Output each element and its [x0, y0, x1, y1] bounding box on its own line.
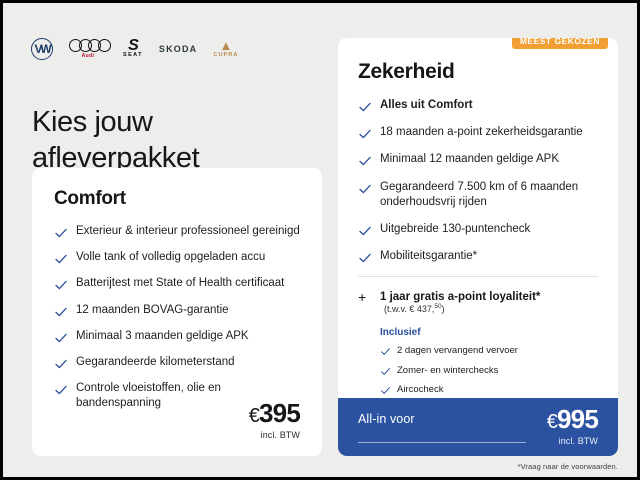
inclusief-item: Aircocheck	[380, 384, 598, 396]
allin-rule	[358, 442, 526, 443]
comfort-feature-label: Exterieur & interieur professioneel gere…	[76, 224, 300, 239]
zekerheid-card-title: Zekerheid	[358, 60, 596, 84]
zekerheid-feature-label: Uitgebreide 130-puntencheck	[380, 222, 598, 237]
check-icon	[54, 383, 68, 397]
loyalty-bonus-value: (t.w.v. € 437,50)	[384, 304, 445, 314]
comfort-feature-label: Volle tank of volledig opgeladen accu	[76, 250, 300, 265]
inclusief-item: Zomer- en winterchecks	[380, 365, 598, 377]
comfort-feature-list: Exterieur & interieur professioneel gere…	[54, 224, 300, 411]
comfort-price-amount: 395	[259, 398, 300, 428]
check-icon	[54, 357, 68, 371]
comfort-feature-label: Batterijtest met State of Health certifi…	[76, 276, 300, 291]
zekerheid-feature-label: 18 maanden a-point zekerheidsgarantie	[380, 125, 598, 140]
check-icon	[358, 251, 372, 265]
zekerheid-feature-item: Alles uit Comfort	[358, 98, 598, 113]
skoda-logo-icon: SKODA	[159, 45, 198, 54]
check-icon	[380, 366, 391, 377]
comfort-currency-symbol: €	[249, 405, 259, 427]
zekerheid-package-card[interactable]: MEEST GEKOZEN Zekerheid Alles uit Comfor…	[338, 38, 618, 456]
comfort-price: €395	[249, 400, 300, 426]
comfort-feature-label: Minimaal 3 maanden geldige APK	[76, 329, 300, 344]
cupra-wordmark: CUPRA	[213, 53, 238, 59]
loyalty-value-cents: 50	[434, 303, 441, 310]
check-icon	[380, 385, 391, 396]
check-icon	[54, 226, 68, 240]
zekerheid-feature-item: Gegarandeerd 7.500 km of 6 maanden onder…	[358, 180, 598, 210]
comfort-price-block: €395 incl. BTW	[249, 400, 300, 440]
zekerheid-feature-label: Minimaal 12 maanden geldige APK	[380, 152, 598, 167]
allin-price-bar: All-in voor €995 incl. BTW	[338, 398, 618, 456]
zekerheid-feature-item: Minimaal 12 maanden geldige APK	[358, 152, 598, 167]
zekerheid-price-amount: 995	[557, 404, 598, 434]
check-icon	[358, 182, 372, 196]
footnote-text: *Vraag naar de voorwaarden.	[518, 462, 618, 471]
inclusief-title: Inclusief	[380, 327, 598, 338]
comfort-feature-item: Minimaal 3 maanden geldige APK	[54, 329, 300, 344]
plus-icon: +	[358, 291, 372, 304]
comfort-feature-label: 12 maanden BOVAG-garantie	[76, 303, 300, 318]
inclusief-label: Aircocheck	[397, 384, 598, 396]
zekerheid-feature-label: Mobiliteitsgarantie*	[380, 249, 598, 264]
zekerheid-price: €995	[547, 406, 598, 432]
loyalty-bonus-label: 1 jaar gratis a-point loyaliteit*	[380, 291, 540, 303]
loyalty-value-suffix: )	[442, 304, 445, 314]
cupra-mark: ▲	[219, 40, 232, 51]
screenshot-frame: VW Audi S SEAT SKODA ▲ CUPRA Kies jouw a…	[0, 0, 640, 480]
zekerheid-feature-label: Alles uit Comfort	[380, 98, 598, 113]
loyalty-value-prefix: (t.w.v. € 437,	[384, 304, 434, 314]
comfort-feature-item: 12 maanden BOVAG-garantie	[54, 303, 300, 318]
most-chosen-badge: MEEST GEKOZEN	[512, 38, 608, 49]
vw-mark: VW	[35, 43, 50, 55]
seat-mark: S	[128, 39, 138, 52]
comfort-feature-item: Exterieur & interieur professioneel gere…	[54, 224, 300, 239]
zekerheid-currency-symbol: €	[547, 411, 557, 433]
section-divider	[358, 276, 598, 277]
seat-logo-icon: S SEAT	[123, 39, 143, 59]
zekerheid-feature-item: Uitgebreide 130-puntencheck	[358, 222, 598, 237]
zekerheid-price-note: incl. BTW	[547, 436, 598, 446]
zekerheid-card-header: MEEST GEKOZEN Zekerheid	[338, 38, 618, 98]
zekerheid-price-block: €995 incl. BTW	[547, 406, 598, 446]
check-icon	[54, 331, 68, 345]
inclusief-label: 2 dagen vervangend vervoer	[397, 345, 598, 357]
audi-wordmark: Audi	[82, 54, 95, 59]
comfort-price-note: incl. BTW	[249, 430, 300, 440]
volkswagen-logo-icon: VW	[31, 38, 53, 60]
check-icon	[358, 224, 372, 238]
check-icon	[54, 278, 68, 292]
comfort-feature-label: Gegarandeerde kilometerstand	[76, 355, 300, 370]
comfort-feature-item: Gegarandeerde kilometerstand	[54, 355, 300, 370]
zekerheid-feature-item: Mobiliteitsgarantie*	[358, 249, 598, 264]
check-icon	[380, 346, 391, 357]
skoda-wordmark: SKODA	[159, 45, 198, 54]
check-icon	[358, 154, 372, 168]
zekerheid-feature-item: 18 maanden a-point zekerheidsgarantie	[358, 125, 598, 140]
allin-label: All-in voor	[358, 412, 415, 426]
cupra-logo-icon: ▲ CUPRA	[213, 40, 238, 59]
check-icon	[54, 305, 68, 319]
loyalty-bonus-row: + 1 jaar gratis a-point loyaliteit*(t.w.…	[338, 291, 618, 315]
comfort-package-card[interactable]: Comfort Exterieur & interieur profession…	[32, 168, 322, 456]
check-icon	[358, 127, 372, 141]
zekerheid-feature-list: Alles uit Comfort18 maanden a-point zeke…	[358, 98, 598, 264]
inclusief-label: Zomer- en winterchecks	[397, 365, 598, 377]
seat-wordmark: SEAT	[123, 53, 143, 59]
check-icon	[358, 100, 372, 114]
comfort-feature-item: Volle tank of volledig opgeladen accu	[54, 250, 300, 265]
audi-logo-icon: Audi	[69, 39, 107, 59]
zekerheid-feature-label: Gegarandeerd 7.500 km of 6 maanden onder…	[380, 180, 598, 210]
comfort-feature-item: Batterijtest met State of Health certifi…	[54, 276, 300, 291]
inclusief-item: 2 dagen vervangend vervoer	[380, 345, 598, 357]
page-root: VW Audi S SEAT SKODA ▲ CUPRA Kies jouw a…	[6, 6, 640, 480]
check-icon	[54, 252, 68, 266]
brand-logo-row: VW Audi S SEAT SKODA ▲ CUPRA	[31, 36, 238, 62]
comfort-card-title: Comfort	[54, 188, 300, 210]
page-title: Kies jouw afleverpakket	[32, 105, 302, 176]
